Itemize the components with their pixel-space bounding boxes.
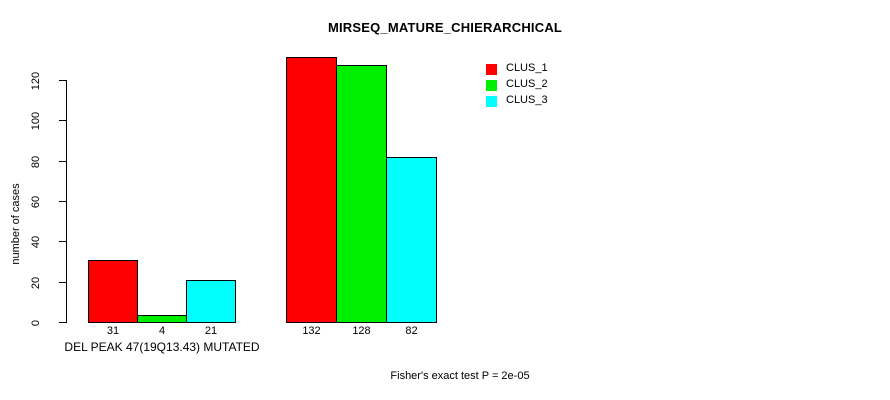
- bar-label-group1-clus1: 31: [88, 325, 138, 337]
- bar-label-group1-clus3: 21: [186, 325, 236, 337]
- statistical-test-annotation: Fisher's exact test P = 2e-05: [280, 370, 640, 382]
- bar-group1-clus1[interactable]: [88, 260, 138, 323]
- bar-label-group2-clus3: 82: [386, 325, 437, 337]
- y-tick-20: [59, 282, 66, 283]
- bar-group1-clus3[interactable]: [186, 280, 236, 323]
- y-tick-0: [59, 322, 66, 323]
- y-tick-label-40: 40: [30, 229, 42, 255]
- y-tick-80: [59, 161, 66, 162]
- legend-swatch-clus2: [486, 80, 497, 91]
- chart-canvas: MIRSEQ_MATURE_CHIERARCHICAL 0 20 40 60 8…: [0, 0, 890, 400]
- legend-label-clus1: CLUS_1: [506, 62, 548, 74]
- y-axis-title: number of cases: [10, 164, 22, 284]
- bar-group2-clus1[interactable]: [286, 57, 337, 323]
- y-tick-label-120: 120: [30, 65, 42, 97]
- y-tick-100: [59, 120, 66, 121]
- y-tick-120: [59, 80, 66, 81]
- y-tick-40: [59, 241, 66, 242]
- y-axis-line: [66, 80, 67, 323]
- group1-baseline: [88, 322, 236, 323]
- y-tick-label-100: 100: [30, 105, 42, 137]
- legend-swatch-clus3: [486, 96, 497, 107]
- legend-label-clus2: CLUS_2: [506, 78, 548, 90]
- bar-label-group2-clus1: 132: [286, 325, 337, 337]
- bar-group2-clus3[interactable]: [386, 157, 437, 323]
- legend-swatch-clus1: [486, 64, 497, 75]
- legend-label-clus3: CLUS_3: [506, 94, 548, 106]
- plot-area: 0 20 40 60 80 100 120 number of cases 31…: [0, 0, 890, 400]
- x-axis-title-group1: DEL PEAK 47(19Q13.43) MUTATED: [42, 340, 282, 354]
- group2-baseline: [286, 322, 437, 323]
- bar-label-group1-clus2: 4: [137, 325, 187, 337]
- y-tick-60: [59, 201, 66, 202]
- y-tick-label-0: 0: [30, 310, 42, 336]
- bar-group2-clus2[interactable]: [336, 65, 387, 323]
- y-tick-label-20: 20: [30, 270, 42, 296]
- bar-label-group2-clus2: 128: [336, 325, 387, 337]
- y-tick-label-60: 60: [30, 189, 42, 215]
- y-tick-label-80: 80: [30, 149, 42, 175]
